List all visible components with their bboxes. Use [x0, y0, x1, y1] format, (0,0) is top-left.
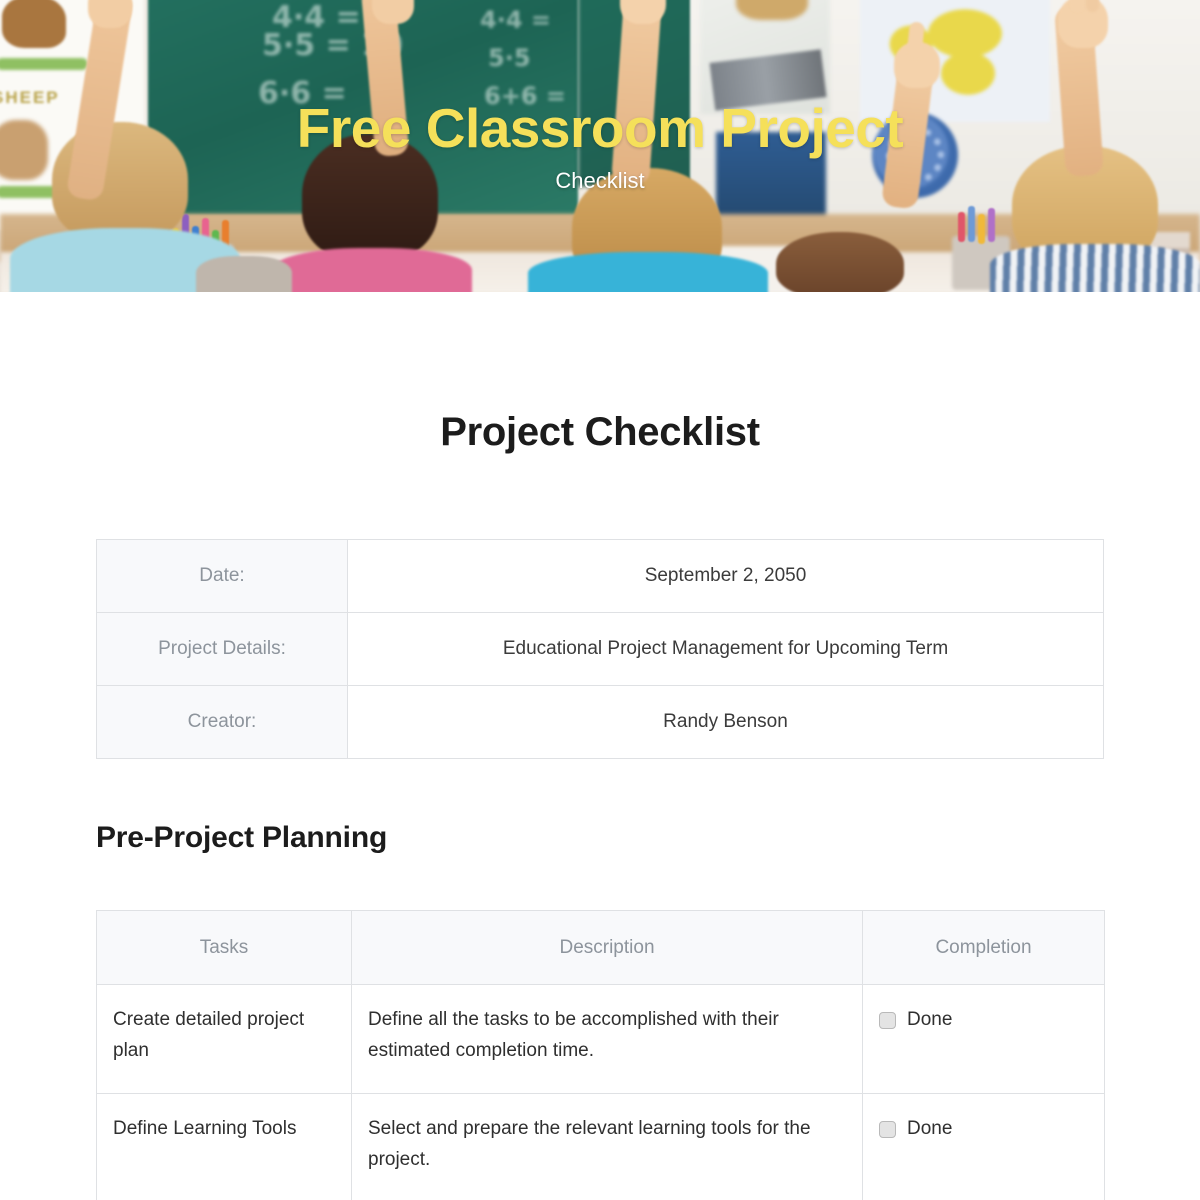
done-label: Done	[907, 1005, 952, 1036]
done-label: Done	[907, 1114, 952, 1145]
task-description-cell[interactable]: Select and prepare the relevant learning…	[352, 1094, 863, 1200]
header-banner: 4·4 = 5·5 = 10 6·6 = 4·4 = 5·5 6+6 = SHE…	[0, 0, 1200, 292]
pre-project-planning-table: Tasks Description Completion Create deta…	[96, 910, 1105, 1200]
column-header-tasks: Tasks	[97, 911, 352, 985]
checkbox-icon[interactable]	[879, 1012, 896, 1029]
info-label-project-details: Project Details:	[97, 613, 348, 686]
table-row: Creator: Randy Benson	[97, 686, 1104, 759]
banner-title: Free Classroom Project	[297, 101, 903, 156]
column-header-description: Description	[352, 911, 863, 985]
info-value-project-details[interactable]: Educational Project Management for Upcom…	[348, 613, 1104, 686]
table-header-row: Tasks Description Completion	[97, 911, 1105, 985]
table-row: Create detailed project plan Define all …	[97, 985, 1105, 1094]
banner-subtitle: Checklist	[555, 168, 644, 194]
section-heading-pre-project-planning: Pre-Project Planning	[96, 821, 1104, 855]
info-label-creator: Creator:	[97, 686, 348, 759]
table-row: Define Learning Tools Select and prepare…	[97, 1094, 1105, 1200]
checkbox-icon[interactable]	[879, 1121, 896, 1138]
banner-text-block: Free Classroom Project Checklist	[0, 0, 1200, 292]
info-value-date[interactable]: September 2, 2050	[348, 540, 1104, 613]
task-name-cell[interactable]: Create detailed project plan	[97, 985, 352, 1094]
info-label-date: Date:	[97, 540, 348, 613]
column-header-completion: Completion	[863, 911, 1105, 985]
info-value-creator[interactable]: Randy Benson	[348, 686, 1104, 759]
project-info-table: Date: September 2, 2050 Project Details:…	[96, 539, 1104, 759]
document-body: Project Checklist Date: September 2, 205…	[0, 410, 1200, 1200]
task-completion-cell: Done	[863, 1094, 1105, 1200]
table-row: Date: September 2, 2050	[97, 540, 1104, 613]
table-row: Project Details: Educational Project Man…	[97, 613, 1104, 686]
task-name-cell[interactable]: Define Learning Tools	[97, 1094, 352, 1200]
task-description-cell[interactable]: Define all the tasks to be accomplished …	[352, 985, 863, 1094]
page-title: Project Checklist	[96, 410, 1104, 455]
task-completion-cell: Done	[863, 985, 1105, 1094]
